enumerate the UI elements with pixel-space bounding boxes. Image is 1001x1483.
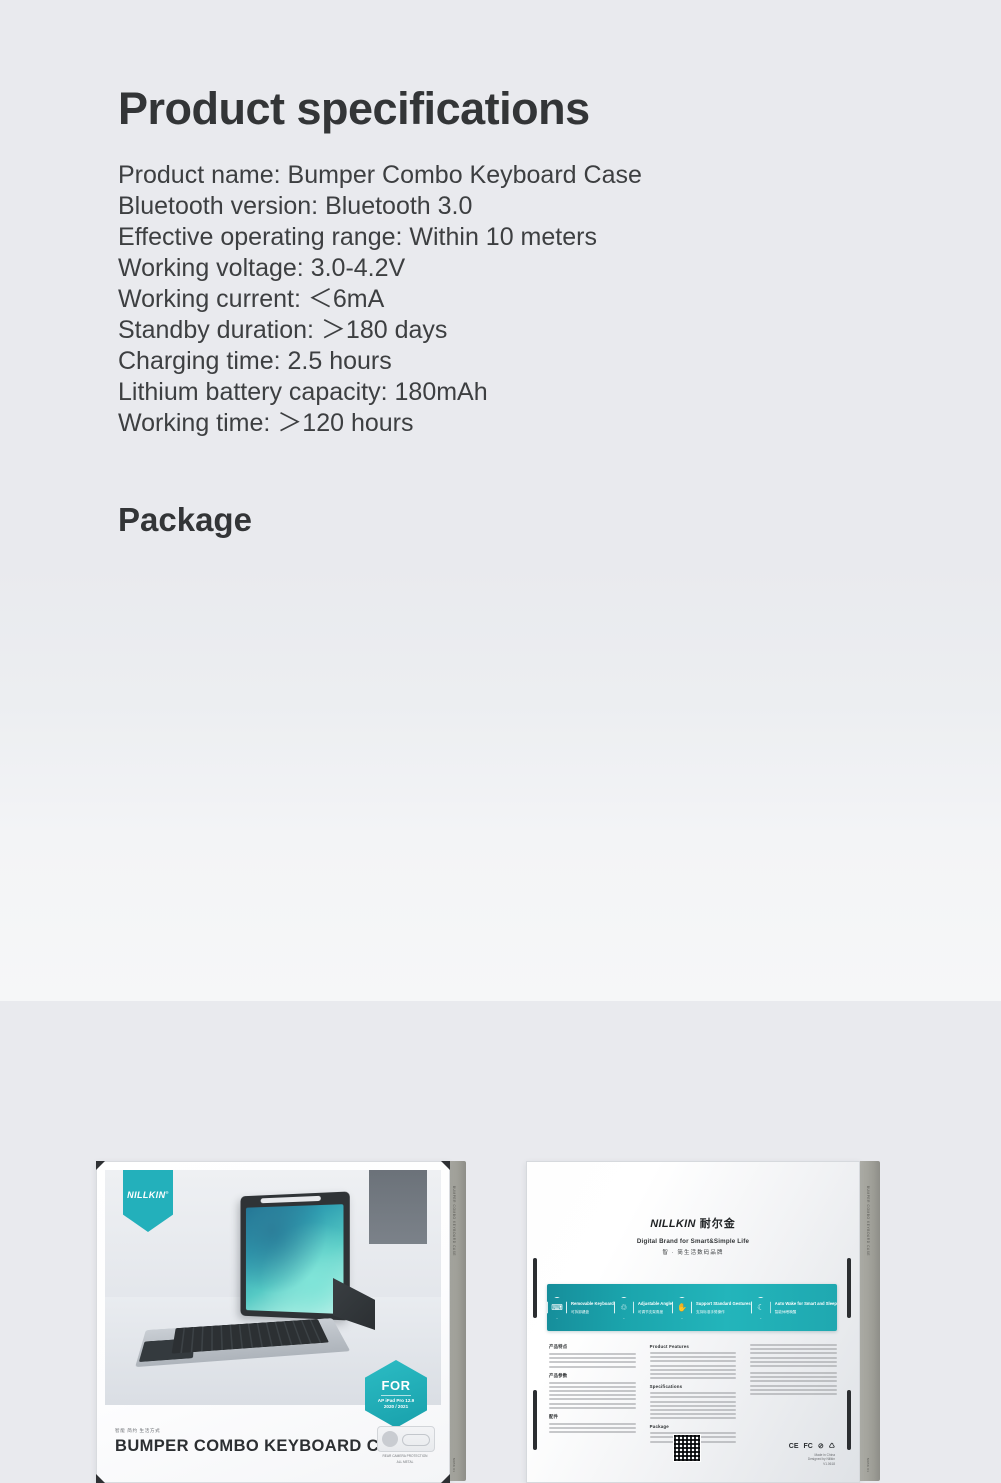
back-logo-row: NILLKIN耐尔金 xyxy=(527,1214,859,1232)
corner-mark-br xyxy=(441,1474,450,1483)
feature-en-4: Auto Wake for Smart and Sleep xyxy=(775,1301,837,1307)
col1-heading-package: 配件 xyxy=(549,1414,636,1420)
column-company-info xyxy=(750,1344,837,1456)
art-dark-panel xyxy=(369,1170,427,1244)
feature-en-3: Support Standard Gestures xyxy=(696,1301,751,1307)
nillkin-wordmark-back: NILLKIN xyxy=(650,1218,695,1230)
stylus-icon xyxy=(261,1196,321,1203)
ce-mark-icon: CE xyxy=(789,1443,799,1450)
back-spine-text: BUMPER COMBO KEYBOARD CASE xyxy=(866,1185,870,1255)
col3-body-1 xyxy=(750,1344,837,1367)
col2-body-1 xyxy=(650,1352,737,1379)
badge-years: 2020 / 2021 xyxy=(384,1404,408,1410)
col2-heading-specs: Specifications xyxy=(650,1384,737,1389)
hand-touch-icon: ✋ xyxy=(672,1297,692,1319)
box-tab-right-bottom xyxy=(847,1390,851,1450)
package-section: Package xyxy=(118,500,252,540)
camera-protection-icon xyxy=(377,1426,435,1452)
feature-cn-2: 可调节支架角度 xyxy=(638,1309,672,1315)
col3-body-2 xyxy=(750,1372,837,1395)
col1-body-3 xyxy=(549,1423,636,1433)
box-tab-left-top xyxy=(533,1258,537,1318)
made-in-block: Made in China Designed by Nillkin V1.061… xyxy=(808,1453,835,1466)
feature-cn-4: 智能休眠唤醒 xyxy=(775,1309,837,1315)
nillkin-wordmark-cn: 耐尔金 xyxy=(700,1218,736,1230)
back-spine-code: NKBK 01 xyxy=(866,1458,870,1472)
feature-item-gestures: ✋ Support Standard Gestures 支持标准手势操作 xyxy=(672,1297,751,1319)
feature-text-4: Auto Wake for Smart and Sleep 智能休眠唤醒 xyxy=(775,1301,837,1315)
page-title: Product specifications xyxy=(118,84,858,134)
product-specifications-section: Product specifications Product name: Bum… xyxy=(118,84,858,439)
feature-en-1: Removable Keyboard xyxy=(571,1301,614,1307)
keyboard-keys xyxy=(172,1319,329,1354)
front-spine-text: BUMPER COMBO KEYBOARD CASE xyxy=(452,1185,456,1255)
recycle-icon: ♲ xyxy=(614,1297,634,1319)
col2-heading-features: Product Features xyxy=(650,1344,737,1349)
feature-item-adjustable-angle: ♲ Adjustable Angle 可调节支架角度 xyxy=(614,1297,672,1319)
feature-en-2: Adjustable Angle xyxy=(638,1301,672,1307)
front-box-face: NILLKIN® FOR AP iPad Pro 12.9 xyxy=(96,1161,450,1483)
corner-mark-bl xyxy=(96,1474,105,1483)
box-tab-left-bottom xyxy=(533,1390,537,1450)
col1-heading-specs: 产品参数 xyxy=(549,1373,636,1379)
column-chinese: 产品特点 产品参数 配件 xyxy=(549,1344,636,1456)
back-box-face: NILLKIN耐尔金 Digital Brand for Smart&Simpl… xyxy=(526,1161,860,1483)
made-in-line3: V1.0618 xyxy=(808,1462,835,1466)
corner-mark-tr xyxy=(441,1161,450,1170)
box-tab-right-top xyxy=(847,1258,851,1318)
col1-heading-features: 产品特点 xyxy=(549,1344,636,1350)
spec-item-operating-range: Effective operating range: Within 10 met… xyxy=(118,222,858,253)
nillkin-wordmark: NILLKIN® xyxy=(127,1190,169,1200)
brand-tagline: Digital Brand for Smart&Simple Life xyxy=(527,1238,859,1245)
spec-item-working-voltage: Working voltage: 3.0-4.2V xyxy=(118,253,858,284)
feature-text-2: Adjustable Angle 可调节支架角度 xyxy=(638,1301,672,1315)
package-photo: BUMPER COMBO KEYBOARD CASE NKBK 01 NILLK… xyxy=(0,560,1001,1001)
chip-caption-line1: REAR CAMERA PROTECTION xyxy=(377,1454,433,1458)
spec-item-battery-capacity: Lithium battery capacity: 180mAh xyxy=(118,377,858,408)
badge-for-label: FOR xyxy=(382,1378,411,1393)
feature-cn-3: 支持标准手势操作 xyxy=(696,1309,751,1315)
spec-item-standby-duration: Standby duration: ＞180 days xyxy=(118,315,858,346)
col2-heading-package: Package xyxy=(650,1424,737,1429)
front-box-footer: 智能 简约 生活方式 BUMPER COMBO KEYBOARD CASE xyxy=(115,1428,414,1456)
front-product-name: BUMPER COMBO KEYBOARD CASE xyxy=(115,1437,414,1456)
feature-cn-1: 可拆卸键盘 xyxy=(571,1309,614,1315)
corner-mark-tl xyxy=(96,1161,105,1170)
package-box-front: BUMPER COMBO KEYBOARD CASE NKBK 01 NILLK… xyxy=(96,1161,448,1481)
feature-item-auto-wake: ☾ Auto Wake for Smart and Sleep 智能休眠唤醒 xyxy=(751,1297,837,1319)
feature-item-removable-keyboard: ⌨ Removable Keyboard 可拆卸键盘 xyxy=(547,1297,614,1319)
tablet-screen xyxy=(246,1204,344,1314)
feature-chip-badge: REAR CAMERA PROTECTION ALL METAL xyxy=(377,1426,433,1460)
certification-marks: CE FC ⊘ ♺ xyxy=(789,1443,835,1450)
package-box-back: BUMPER COMBO KEYBOARD CASE NKBK 01 NILLK… xyxy=(526,1161,878,1481)
brand-tagline-cn: 智 · 简生活数码品牌 xyxy=(527,1248,859,1256)
recycle-mark-icon: ♺ xyxy=(829,1443,835,1450)
back-brand-block: NILLKIN耐尔金 Digital Brand for Smart&Simpl… xyxy=(527,1214,859,1256)
made-in-line2: Designed by Nillkin xyxy=(808,1457,835,1461)
qr-code xyxy=(673,1434,701,1462)
col1-body-2 xyxy=(549,1382,636,1409)
front-footer-cn: 智能 简约 生活方式 xyxy=(115,1428,414,1434)
weee-mark-icon: ⊘ xyxy=(818,1443,824,1450)
spec-item-product-name: Product name: Bumper Combo Keyboard Case xyxy=(118,160,858,191)
spec-item-working-current: Working current: ＜6mA xyxy=(118,284,858,315)
spec-item-working-time: Working time: ＞120 hours xyxy=(118,408,858,439)
keyboard-icon: ⌨ xyxy=(547,1297,567,1319)
spec-item-bluetooth-version: Bluetooth version: Bluetooth 3.0 xyxy=(118,191,858,222)
spec-item-charging-time: Charging time: 2.5 hours xyxy=(118,346,858,377)
badge-divider xyxy=(381,1395,411,1396)
col2-body-2 xyxy=(650,1392,737,1419)
package-title: Package xyxy=(118,500,252,540)
fcc-mark-icon: FC xyxy=(804,1443,813,1450)
col1-body-1 xyxy=(549,1353,636,1368)
chip-caption-line2: ALL METAL xyxy=(377,1460,433,1464)
specification-list: Product name: Bumper Combo Keyboard Case… xyxy=(118,160,858,439)
feature-text-1: Removable Keyboard 可拆卸键盘 xyxy=(571,1301,614,1315)
feature-text-3: Support Standard Gestures 支持标准手势操作 xyxy=(696,1301,751,1315)
feature-highlight-bar: ⌨ Removable Keyboard 可拆卸键盘 ♲ Adjustable … xyxy=(547,1284,837,1331)
front-spine-code: NKBK 01 xyxy=(452,1458,456,1472)
moon-icon: ☾ xyxy=(751,1297,771,1319)
